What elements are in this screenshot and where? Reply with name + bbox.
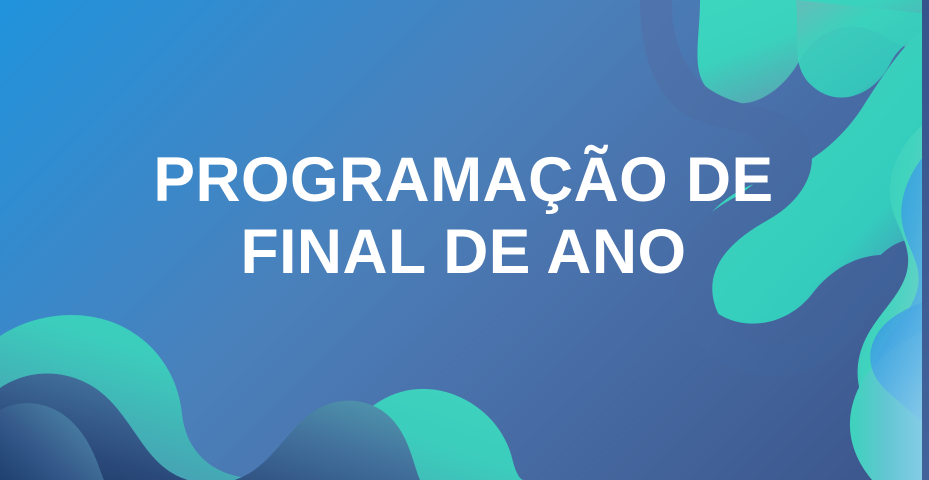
headline-line-1: PROGRAMAÇÃO DE bbox=[5, 145, 923, 215]
promo-banner: PROGRAMAÇÃO DE FINAL DE ANO bbox=[0, 0, 929, 480]
page-title: PROGRAMAÇÃO DE FINAL DE ANO bbox=[0, 145, 929, 287]
headline-line-2: FINAL DE ANO bbox=[5, 217, 923, 287]
